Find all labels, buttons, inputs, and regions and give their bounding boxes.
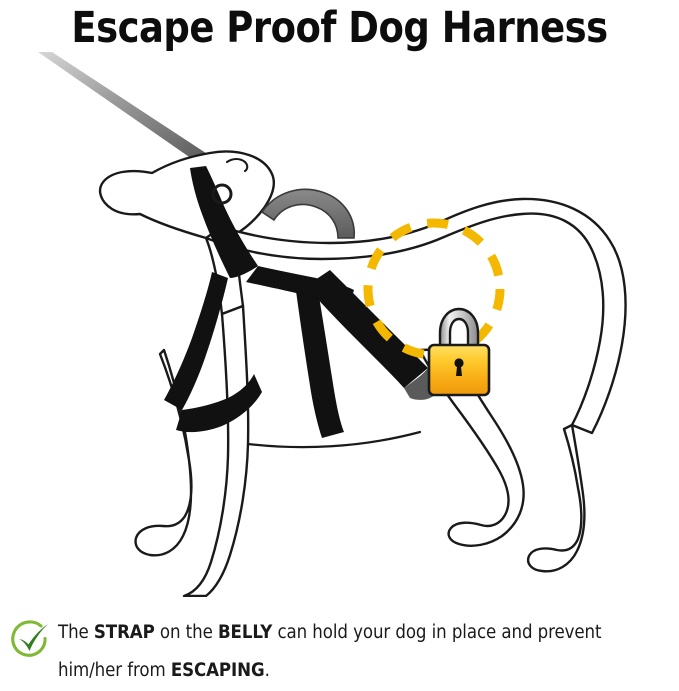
caption-seg: can hold your dog in place and prevent (272, 622, 601, 643)
green-check-icon (8, 618, 52, 662)
page-title: Escape Proof Dog Harness (48, 2, 632, 54)
padlock (428, 309, 489, 395)
harness-chest-strap (164, 272, 228, 410)
caption-block: The STRAP on the BELLY can hold your dog… (0, 608, 679, 691)
dog-hind-leg-far (528, 425, 584, 571)
caption-seg: The (58, 622, 94, 643)
caption-line-2: him/her from ESCAPING. (58, 652, 614, 690)
dog-harness-diagram-svg (0, 52, 679, 597)
caption-seg: on the (155, 622, 218, 643)
caption-line-1: The STRAP on the BELLY can hold your dog… (58, 614, 614, 652)
caption-seg: him/her from (58, 660, 171, 681)
harness-straps (164, 166, 439, 438)
caption-seg-strap: STRAP (94, 622, 155, 643)
harness-illustration (0, 52, 679, 597)
caption-seg-escaping: ESCAPING (171, 660, 265, 681)
caption-seg: . (265, 660, 270, 681)
caption-seg-belly: BELLY (218, 622, 272, 643)
caption-text: The STRAP on the BELLY can hold your dog… (58, 614, 614, 690)
lock-shackle (440, 309, 478, 348)
